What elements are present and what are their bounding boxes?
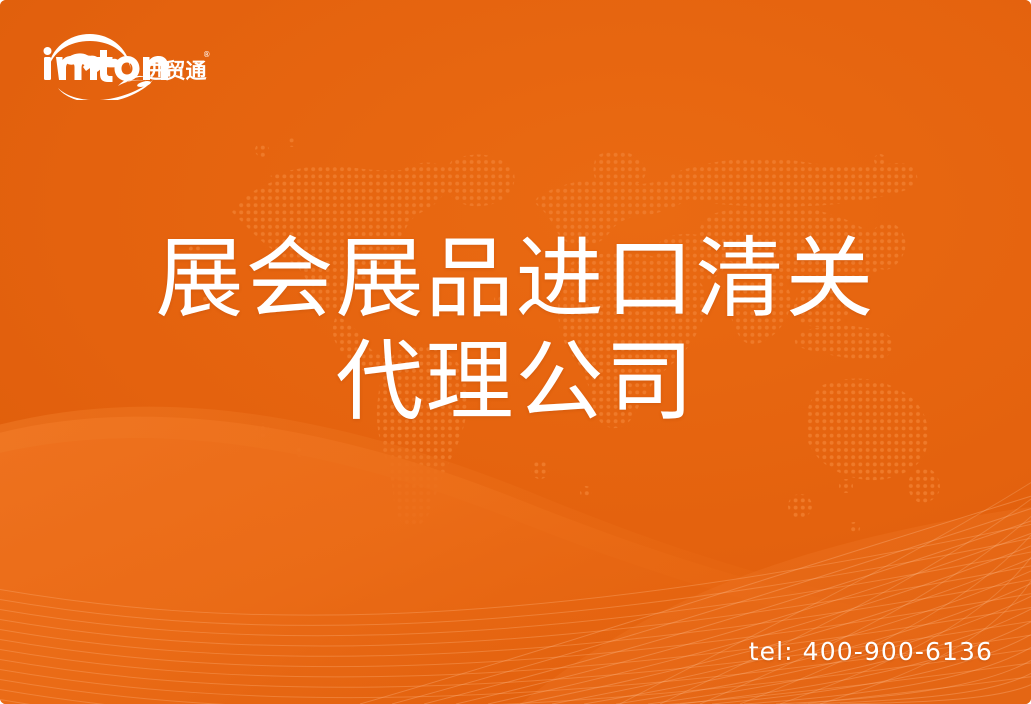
page-title: 展会展品进口清关 代理公司: [0, 228, 1031, 434]
logo-wordmark-chinese: 进贸通: [144, 59, 207, 83]
headline-line-1: 展会展品进口清关: [0, 228, 1031, 331]
registered-trademark-icon: ®: [203, 50, 210, 59]
brand-logo[interactable]: 进贸通 ®: [38, 28, 210, 100]
headline-line-2: 代理公司: [0, 331, 1031, 434]
contact-telephone[interactable]: tel: 400-900-6136: [749, 637, 993, 666]
promo-banner: 进贸通 ® 展会展品进口清关 代理公司 tel: 400-900-6136: [0, 0, 1031, 704]
